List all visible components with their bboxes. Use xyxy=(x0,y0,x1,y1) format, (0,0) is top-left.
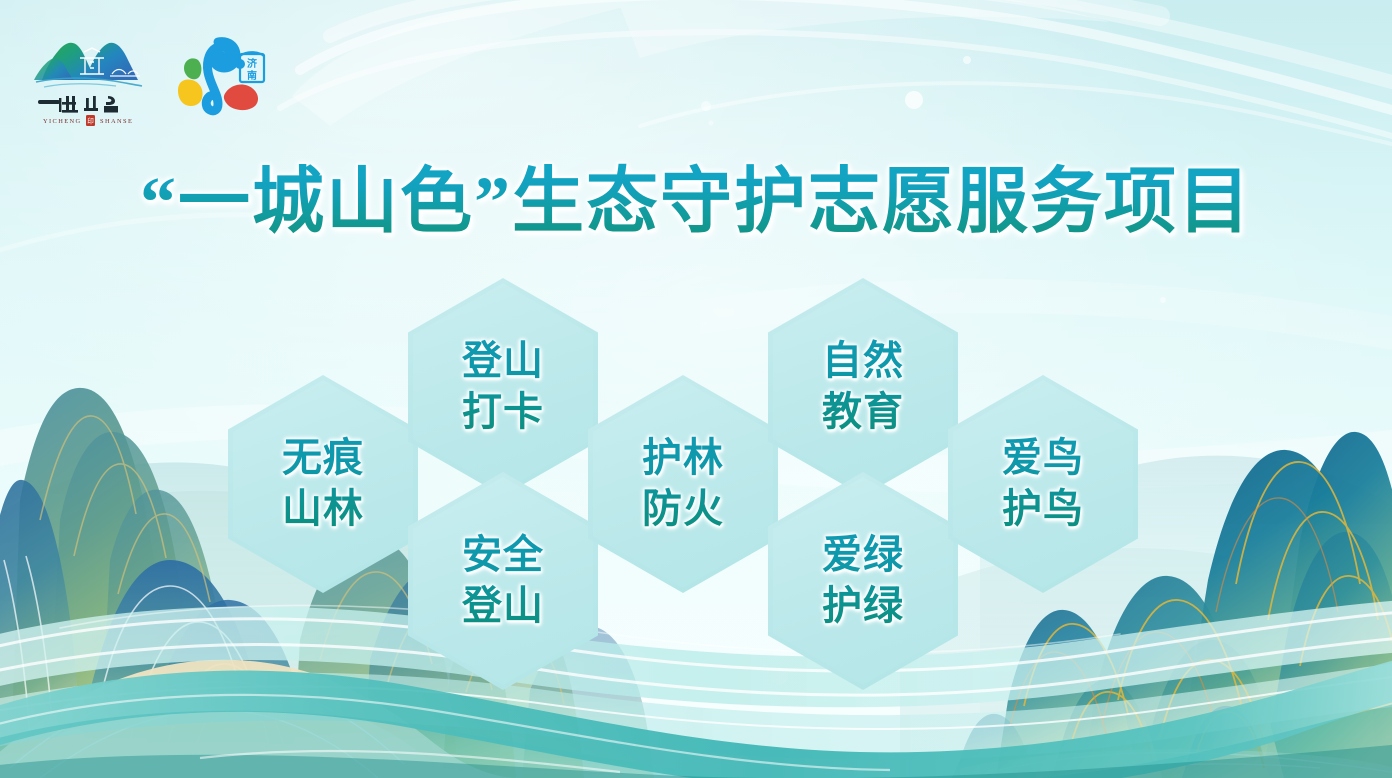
hex-label-wuhen-shanlin: 无痕 山林 xyxy=(282,433,364,535)
hex-card-hulin-fanghuo[interactable]: 护林 防火 xyxy=(588,375,778,593)
hex-line2: 打卡 xyxy=(462,387,544,438)
hex-label-ziran-jiaoyu: 自然 教育 xyxy=(822,336,904,438)
hex-line1: 无痕 xyxy=(282,433,364,484)
hex-line1: 护林 xyxy=(642,433,724,484)
hex-line2: 护鸟 xyxy=(1002,484,1084,535)
hex-line2: 防火 xyxy=(642,484,724,535)
hex-card-ailv-hulv[interactable]: 爱绿 护绿 xyxy=(768,472,958,690)
hexagon-grid: 无痕 山林 登山 打卡 安全 登山 护林 防火 自然 教 xyxy=(0,0,1392,778)
hex-line1: 爱绿 xyxy=(822,530,904,581)
poster-canvas: YICHENG SHANSE 印 xyxy=(0,0,1392,778)
hex-card-dengshan-daka[interactable]: 登山 打卡 xyxy=(408,278,598,496)
hex-line2: 护绿 xyxy=(822,581,904,632)
hex-card-ziran-jiaoyu[interactable]: 自然 教育 xyxy=(768,278,958,496)
hex-line1: 爱鸟 xyxy=(1002,433,1084,484)
hex-card-anquan-dengshan[interactable]: 安全 登山 xyxy=(408,472,598,690)
hex-label-anquan-dengshan: 安全 登山 xyxy=(462,530,544,632)
hex-line2: 教育 xyxy=(822,387,904,438)
hex-card-ainiao-huniao[interactable]: 爱鸟 护鸟 xyxy=(948,375,1138,593)
hex-card-wuhen-shanlin[interactable]: 无痕 山林 xyxy=(228,375,418,593)
hex-label-ailv-hulv: 爱绿 护绿 xyxy=(822,530,904,632)
hex-label-hulin-fanghuo: 护林 防火 xyxy=(642,433,724,535)
hex-line1: 安全 xyxy=(462,530,544,581)
hex-line2: 山林 xyxy=(282,484,364,535)
hex-line2: 登山 xyxy=(462,581,544,632)
hex-label-dengshan-daka: 登山 打卡 xyxy=(462,336,544,438)
hex-label-ainiao-huniao: 爱鸟 护鸟 xyxy=(1002,433,1084,535)
hex-line1: 自然 xyxy=(822,336,904,387)
hex-line1: 登山 xyxy=(462,336,544,387)
